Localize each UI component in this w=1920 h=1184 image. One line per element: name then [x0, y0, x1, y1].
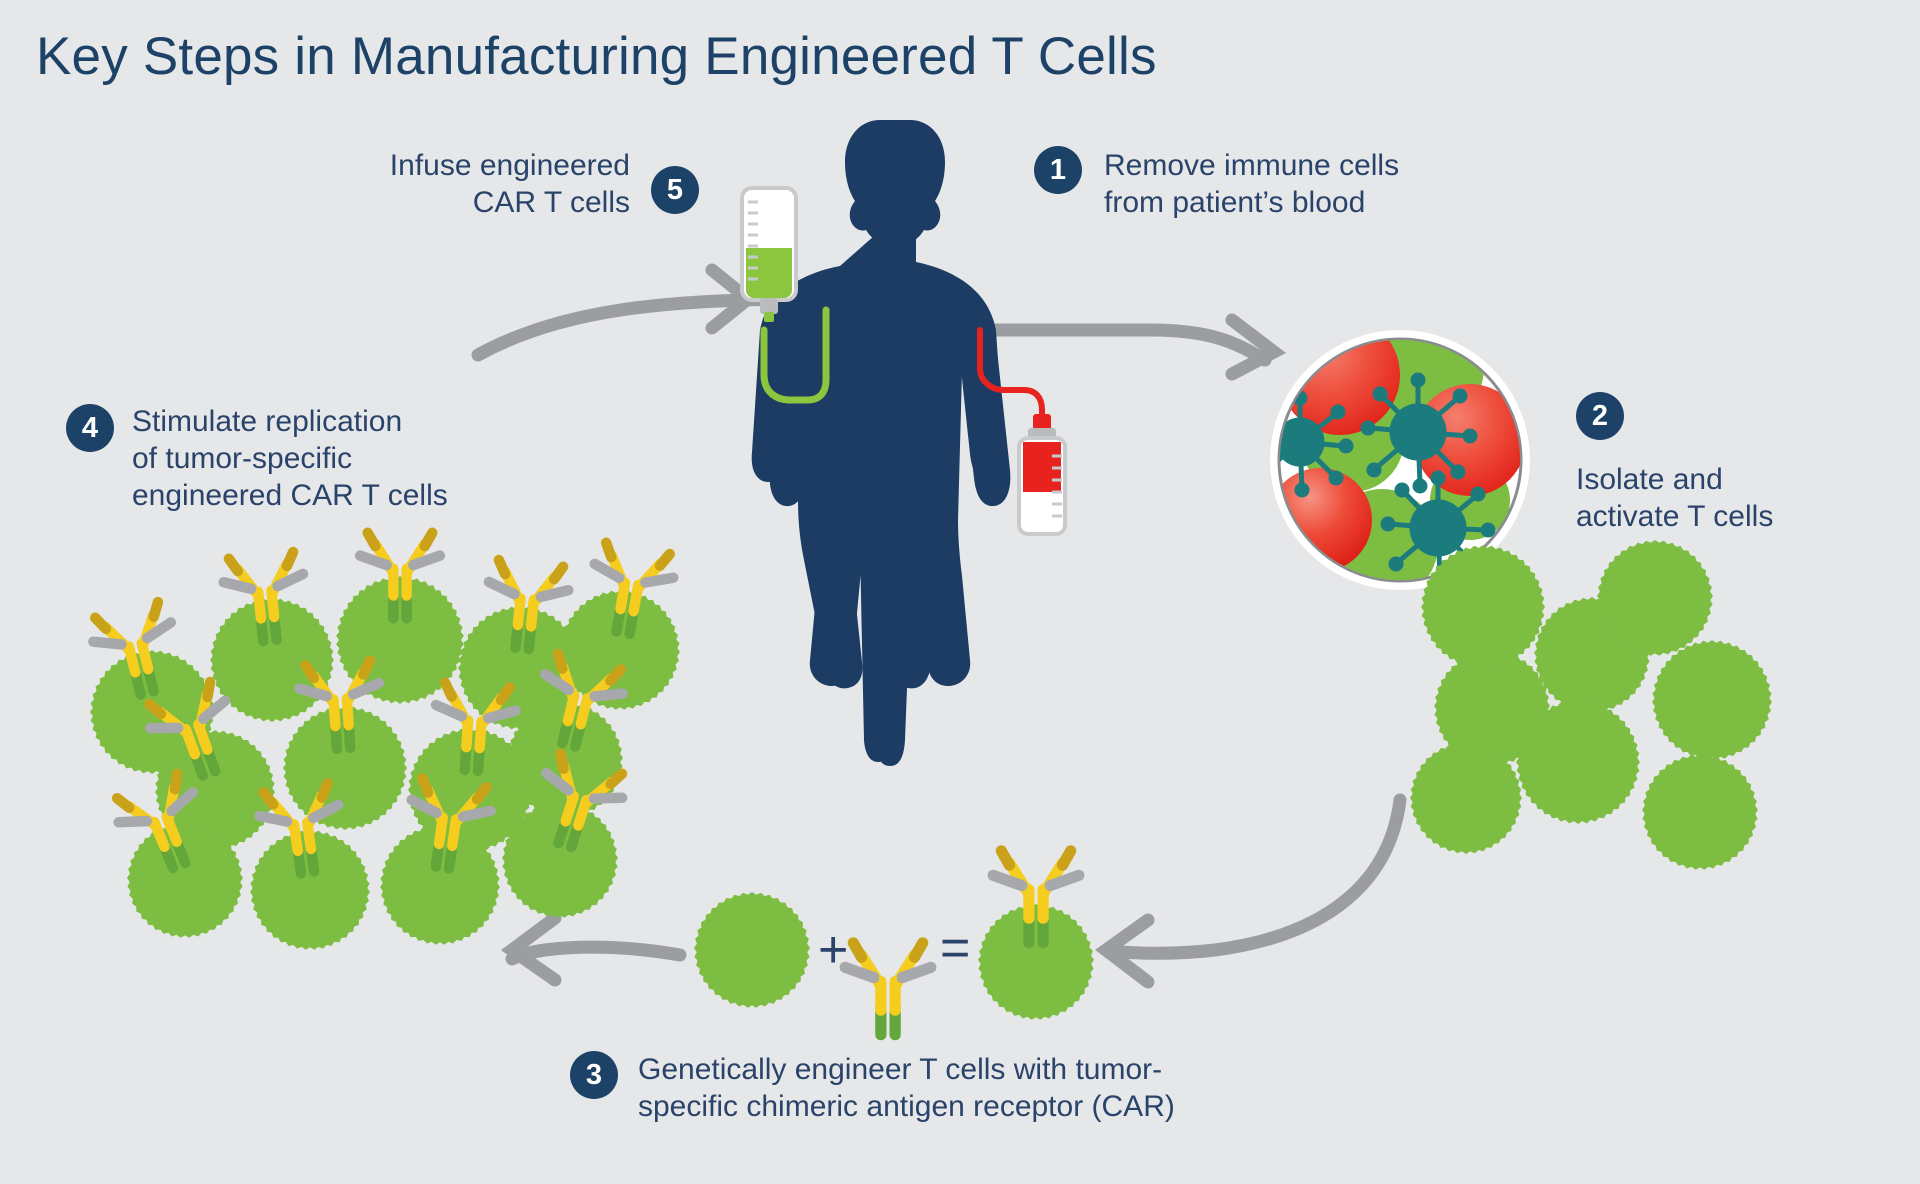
t-cell — [502, 802, 618, 918]
patient-silhouette — [770, 120, 1011, 766]
t-cell — [1534, 597, 1650, 713]
car-receptor-icon — [142, 679, 246, 787]
t-cell — [283, 706, 407, 830]
step-badge-4[interactable]: 4 — [66, 404, 114, 452]
car-receptor-icon — [432, 682, 518, 773]
t-cell — [1421, 545, 1545, 669]
t-cell — [1516, 700, 1640, 824]
equation-equals: = — [940, 918, 970, 978]
t-cell — [210, 598, 334, 722]
blood-bag-icon — [980, 330, 1065, 534]
t-cell — [90, 650, 214, 774]
step-badge-3[interactable]: 3 — [570, 1051, 618, 1099]
t-cell — [694, 892, 810, 1008]
car-receptor-icon — [298, 660, 384, 751]
step-badge-1[interactable]: 1 — [1034, 146, 1082, 194]
step-badge-2[interactable]: 2 — [1576, 392, 1624, 440]
step-text-3: Genetically engineer T cells with tumor-… — [638, 1052, 1338, 1126]
step-text-1: Remove immune cells from patient’s blood — [1104, 148, 1524, 222]
petri-dish-icon — [1257, 312, 1530, 601]
car-receptor-icon — [403, 777, 494, 873]
car-receptor-icon — [110, 771, 216, 880]
step-text-2: Isolate and activate T cells — [1576, 462, 1916, 536]
t-cell — [1597, 540, 1713, 656]
step-text-5: Infuse engineered CAR T cells — [280, 148, 630, 222]
t-cell — [507, 702, 623, 818]
arrow-to-patient — [478, 270, 840, 355]
page-title: Key Steps in Manufacturing Engineered T … — [36, 26, 1157, 87]
t-cell — [1652, 640, 1772, 760]
equation-plus: + — [818, 920, 848, 980]
arrow-to-replication — [512, 918, 680, 980]
t-cell — [978, 904, 1094, 1020]
t-cell — [155, 730, 275, 850]
car-receptor-icon — [256, 782, 347, 878]
car-equation — [694, 851, 1094, 1035]
t-cell — [1642, 754, 1758, 870]
t-cell — [336, 576, 464, 704]
car-receptor-icon — [88, 600, 186, 702]
car-receptor-icon — [530, 652, 628, 754]
car-receptor-icon — [993, 851, 1079, 943]
car-receptor-icon — [845, 943, 931, 1035]
t-cell — [458, 606, 582, 730]
t-cell — [1410, 742, 1522, 854]
car-receptor-icon — [482, 559, 570, 652]
step-badge-5[interactable]: 5 — [651, 166, 699, 214]
t-cell — [250, 830, 370, 950]
car-receptor-icon — [221, 551, 309, 644]
t-cell-cluster — [1410, 540, 1772, 870]
car-t-cell-cluster — [88, 533, 680, 950]
car-receptor-icon — [527, 751, 629, 857]
step-text-4: Stimulate replication of tumor-specific … — [132, 404, 512, 515]
t-cell — [1434, 650, 1550, 766]
iv-bag-icon — [742, 188, 826, 400]
t-cell — [408, 728, 532, 852]
arrow-to-engineering — [1106, 800, 1400, 982]
car-receptor-icon — [360, 533, 440, 619]
arrow-to-petri-dish — [930, 320, 1274, 374]
t-cell — [560, 590, 680, 710]
car-receptor-icon — [584, 541, 677, 639]
infographic-canvas: Key Steps in Manufacturing Engineered T … — [0, 0, 1920, 1184]
t-cell — [127, 822, 243, 938]
t-cell — [380, 825, 500, 945]
patient-body — [752, 236, 1005, 762]
